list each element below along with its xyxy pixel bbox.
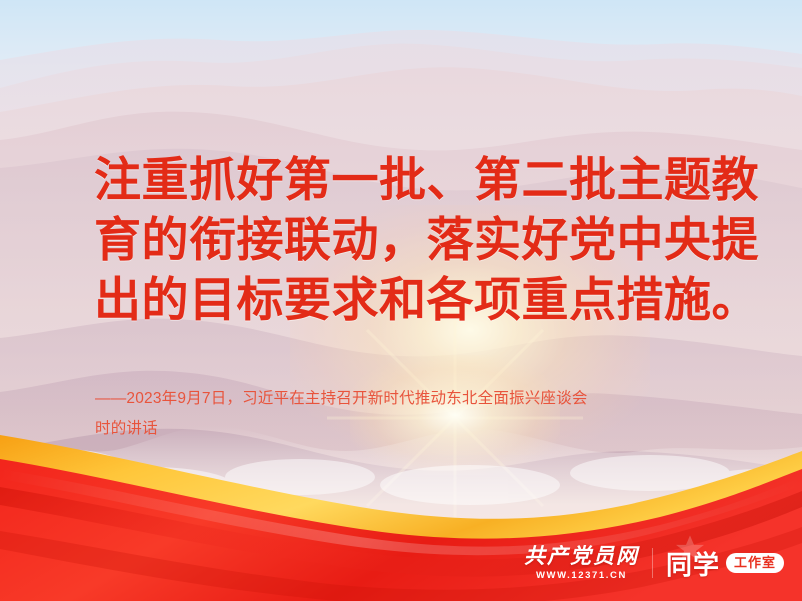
headline-block: 注重抓好第一批、第二批主题教 育的衔接联动，落实好党中央提 出的目标要求和各项重… xyxy=(94,150,734,330)
cpc-logo-name: 共产党员网 xyxy=(524,546,639,567)
logo-divider xyxy=(652,548,653,578)
attribution-line-1: ——2023年9月7日，习近平在主持召开新时代推动东北全面振兴座谈会 xyxy=(95,384,725,414)
headline-line-2: 育的衔接联动，落实好党中央提 xyxy=(94,210,734,270)
poster-canvas: 注重抓好第一批、第二批主题教 育的衔接联动，落实好党中央提 出的目标要求和各项重… xyxy=(0,0,802,601)
logo-group: 共产党员网 WWW.12371.CN 同学 工作室 xyxy=(524,539,784,587)
studio-logo-name: 同学 xyxy=(666,545,720,582)
studio-logo-badge: 工作室 xyxy=(726,553,784,573)
headline-line-1: 注重抓好第一批、第二批主题教 xyxy=(94,150,734,210)
cpc-member-network-logo[interactable]: 共产党员网 WWW.12371.CN xyxy=(524,546,639,581)
headline-line-3: 出的目标要求和各项重点措施。 xyxy=(94,270,734,330)
studio-logo[interactable]: 同学 工作室 xyxy=(666,545,784,582)
cpc-logo-url: WWW.12371.CN xyxy=(536,571,627,581)
